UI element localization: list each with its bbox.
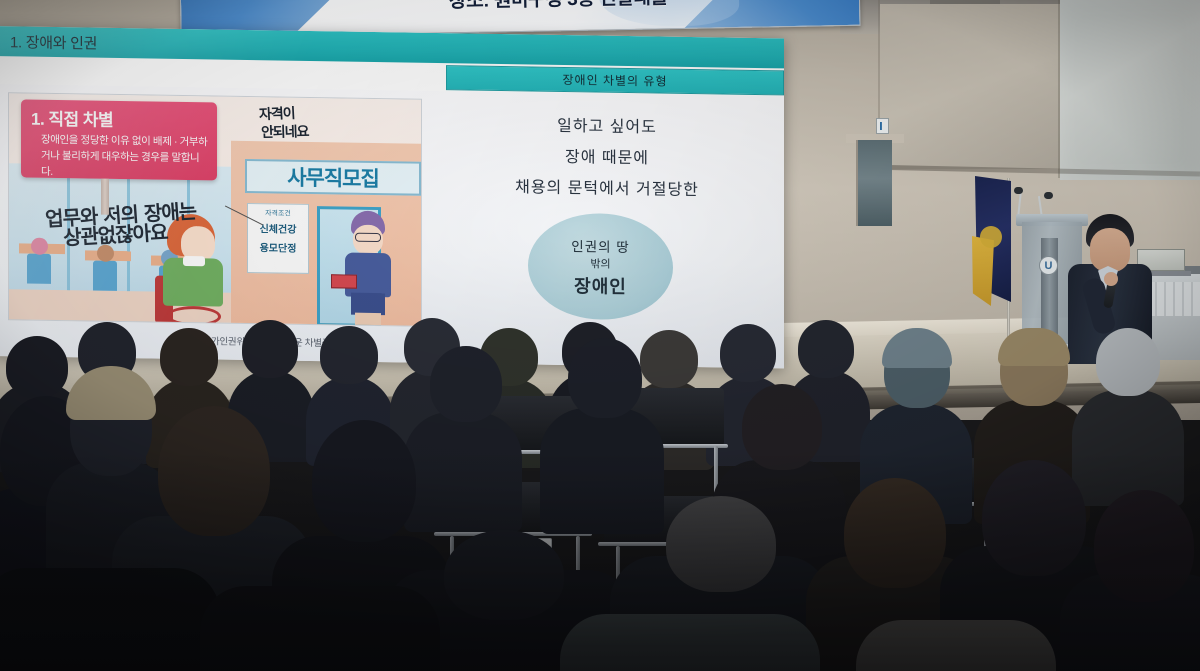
- right-text-line-3: 채용의 문턱에서 거절당한: [442, 171, 772, 207]
- audience-member: [200, 570, 440, 671]
- wall-panel-right: [1060, 0, 1200, 180]
- side-doorway: [856, 140, 892, 226]
- cartoon-speech-line-2: 상관없잖아요: [62, 216, 168, 251]
- audience-member: [560, 600, 820, 671]
- audience-member: [0, 550, 220, 671]
- flag-emblem: [980, 226, 1002, 248]
- oval-line-3: 장애인: [574, 272, 627, 299]
- slide-definition-box: 1. 직접 차별 장애인을 정당한 이유 없이 배제 · 거부하거나 불리하게 …: [21, 99, 217, 180]
- right-text-line-1: 일하고 싶어도: [442, 109, 772, 145]
- wall-seam: [1058, 0, 1060, 178]
- notice-line-1: 신체건강: [248, 223, 308, 237]
- slide-subtitle: 장애인 차별의 유형: [563, 71, 668, 90]
- slide-cartoon-illustration: 사무직모집 자격조건 신체건강 용모단정: [8, 92, 422, 327]
- podium-logo: U: [1039, 256, 1058, 275]
- audience-member: [856, 600, 1056, 671]
- microphone-head-right: [1044, 192, 1053, 199]
- cartoon-staff-speech-line-2: 안되네요: [261, 121, 309, 142]
- oval-line-1: 인권의 땅: [571, 235, 629, 256]
- microphone-head-left: [1014, 187, 1023, 194]
- oval-line-2: 밖의: [590, 255, 610, 271]
- exit-sign-icon: [876, 118, 889, 134]
- cartoon-recruit-sign: 사무직모집: [245, 159, 421, 196]
- audience-member: [540, 338, 664, 508]
- audience-hat: [882, 328, 952, 368]
- slide-right-text: 일하고 싶어도 장애 때문에 채용의 문턱에서 거절당한: [442, 109, 772, 208]
- glasses-icon: [355, 233, 381, 242]
- audience-hat: [998, 328, 1070, 366]
- definition-box-body: 장애인을 정당한 이유 없이 배제 · 거부하거나 불리하게 대우하는 경우를 …: [41, 133, 209, 183]
- lecture-hall-photo: 장소: 원미구청 3층 진달래홀 장애인식개선교육 1. 장애와 인권 장애인 …: [0, 0, 1200, 671]
- audience: [0, 300, 1200, 671]
- presenter-face: [1090, 228, 1130, 272]
- slide-header-title: 1. 장애와 인권: [10, 31, 97, 53]
- right-text-line-2: 장애 때문에: [442, 140, 772, 176]
- notice-line-2: 용모단정: [248, 241, 308, 255]
- cartoon-requirements-notice: 자격조건 신체건강 용모단정: [247, 203, 309, 274]
- slide-subtitle-bar: 장애인 차별의 유형: [446, 65, 784, 95]
- notice-title: 자격조건: [248, 208, 308, 219]
- audience-member: [1060, 490, 1200, 671]
- cartoon-recruit-sign-text: 사무직모집: [287, 162, 379, 193]
- wall-panel-middle: [880, 4, 1070, 169]
- definition-box-title: 1. 직접 차별: [31, 105, 209, 133]
- audience-member: [1072, 328, 1184, 478]
